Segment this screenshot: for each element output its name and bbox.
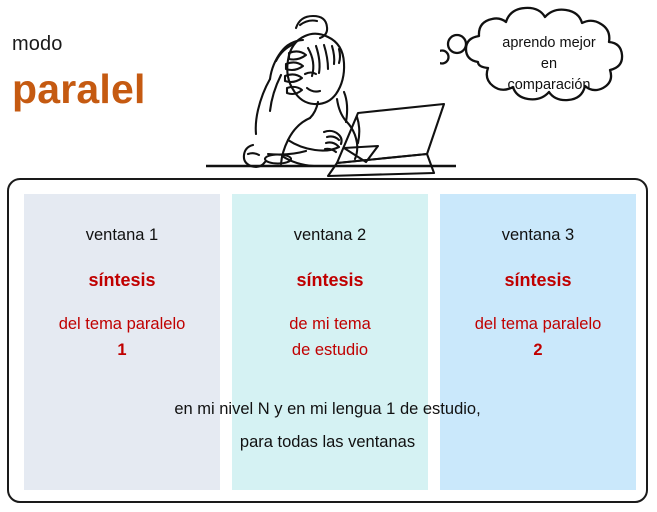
thought-bubble-line-3: comparación (468, 75, 630, 96)
window-column-1-body-line-2: 1 (24, 337, 220, 363)
window-column-1[interactable]: ventana 1 síntesis del tema paralelo 1 (24, 194, 220, 490)
window-column-3[interactable]: ventana 3 síntesis del tema paralelo 2 (440, 194, 636, 490)
window-column-2-body-line-2: de estudio (232, 337, 428, 363)
thought-bubble-line-2: en (468, 54, 630, 75)
header-zone: modo paralel (0, 0, 657, 178)
window-column-2-title: ventana 2 (232, 226, 428, 245)
window-column-2-heading: síntesis (232, 270, 428, 291)
window-column-1-heading: síntesis (24, 270, 220, 291)
window-column-3-body-line-2: 2 (440, 337, 636, 363)
window-column-3-body: del tema paralelo 2 (440, 311, 636, 363)
window-column-1-title: ventana 1 (24, 226, 220, 245)
window-column-3-heading: síntesis (440, 270, 636, 291)
window-column-3-title: ventana 3 (440, 226, 636, 245)
window-column-2[interactable]: ventana 2 síntesis de mi tema de estudio (232, 194, 428, 490)
window-column-3-body-line-1: del tema paralelo (440, 311, 636, 337)
window-column-2-body: de mi tema de estudio (232, 311, 428, 363)
windows-panel: ventana 1 síntesis del tema paralelo 1 v… (7, 178, 648, 503)
mode-label: modo (12, 33, 62, 56)
mode-value: paralel (12, 66, 146, 113)
window-columns: ventana 1 síntesis del tema paralelo 1 v… (24, 194, 636, 490)
person-studying-at-laptop-illustration (206, 0, 456, 181)
window-column-1-body: del tema paralelo 1 (24, 311, 220, 363)
window-column-2-body-line-1: de mi tema (232, 311, 428, 337)
window-column-1-body-line-1: del tema paralelo (24, 311, 220, 337)
thought-bubble-line-1: aprendo mejor (468, 33, 630, 54)
thought-bubble-text: aprendo mejor en comparación (468, 33, 630, 96)
